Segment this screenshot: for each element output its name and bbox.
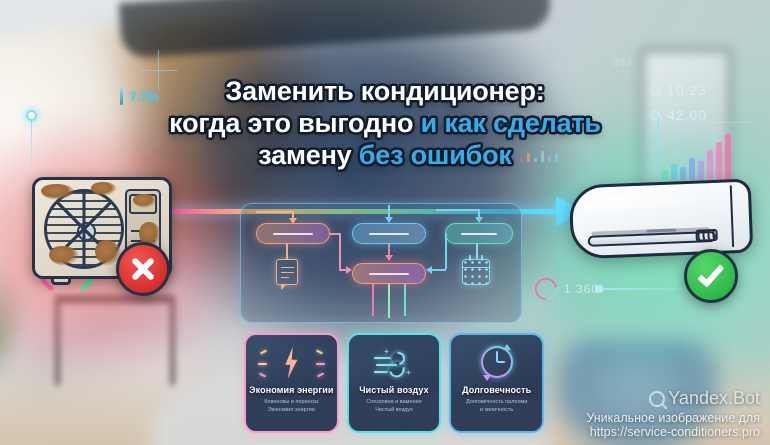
subtitle-line-1: Спесковна и вамение: [366, 399, 421, 405]
image-canvas: 7.7% 393 10.23 42.00 1 360: [0, 0, 770, 445]
feature-card-subtitle: Ковеновы и пересказ Экономия энергии: [260, 398, 322, 415]
hud-gauge-value: 1 360: [564, 282, 599, 296]
rust-patch: [133, 194, 157, 208]
cross-badge: [116, 242, 170, 296]
title-line-2: когда это выгодно и как сделать: [0, 108, 770, 140]
title-line-3: замену без ошибок: [0, 140, 770, 172]
page-title: Заменить кондиционер: когда это выгодно …: [0, 76, 770, 172]
subtitle-line-1: Ковеновы и пересказ: [264, 399, 318, 405]
flow-node-3: [445, 223, 513, 244]
subtitle-line-2: Экономия энергии: [268, 407, 315, 413]
wind-icon: + +: [349, 343, 440, 383]
ac-display-panel: [695, 229, 717, 242]
subtitle-line-1: Долговечность палеоми: [466, 399, 527, 405]
feature-card-title: Чистый воздух: [359, 385, 429, 395]
flow-node-4: [352, 263, 426, 284]
ac-mounting-foot: [51, 276, 71, 285]
check-mark-icon: [697, 259, 724, 287]
watermark-brand: Yandex.Bot: [586, 388, 760, 409]
lightning-bolt-icon: [246, 343, 337, 383]
magnifier-icon: [649, 391, 665, 407]
document-icon: [276, 259, 298, 285]
feature-card-title: Экономия энергии: [249, 385, 333, 395]
check-badge: [684, 249, 738, 303]
feature-card-durability[interactable]: Долговечность Долговечность палеоми и зв…: [449, 333, 544, 433]
watermark-brand-label: Yandex.Bot: [668, 388, 760, 409]
subtitle-line-2: Чистый воздух: [375, 407, 413, 413]
feature-card-energy[interactable]: Экономия энергии Ковеновы и пересказ Эко…: [244, 333, 339, 433]
title-line-2-highlight: и как сделать: [421, 108, 601, 138]
watermark: Yandex.Bot Уникальное изображение для ht…: [586, 388, 760, 439]
hud-counter-top: 393: [613, 58, 633, 69]
neon-flow-diagram: [240, 203, 522, 323]
watermark-line-2: https://service-conditioners.pro: [586, 425, 760, 439]
watermark-line-1: Уникальное изображение для: [586, 411, 760, 425]
bolt-shape: [282, 347, 300, 379]
ac-edge-seam: [729, 185, 734, 247]
hud-gauge-group: 1 360: [535, 278, 599, 300]
rust-patch: [91, 182, 117, 196]
title-line-2-white: когда это выгодно: [169, 108, 420, 138]
feature-card-subtitle: Долговечность палеоми и звличность: [462, 398, 531, 415]
feature-cards: Экономия энергии Ковеновы и пересказ Эко…: [244, 333, 544, 433]
hud-gauge-ring: [535, 278, 557, 300]
title-line-3-white: замену: [258, 140, 359, 170]
title-line-1: Заменить кондиционер:: [0, 76, 770, 108]
clock-arrow-icon: [451, 343, 542, 383]
wind-shape: + +: [374, 349, 414, 379]
feature-card-title: Долговечность: [462, 385, 531, 395]
title-line-3-highlight: без ошибок: [359, 140, 512, 170]
ac-highlight: [582, 191, 702, 210]
feature-card-subtitle: Спесковна и вамение Чистый воздух: [362, 398, 425, 415]
clock-shape: [481, 346, 513, 378]
hud-slider-track: [600, 288, 696, 290]
flow-node-2: [352, 223, 426, 244]
new-split-ac-unit: [569, 179, 754, 260]
calendar-icon: [462, 259, 490, 285]
flow-node-1: [256, 223, 330, 244]
feature-card-clean-air[interactable]: + + Чистый воздух Спесковна и вамение Чи…: [347, 333, 442, 433]
subtitle-line-2: и звличность: [480, 407, 513, 413]
